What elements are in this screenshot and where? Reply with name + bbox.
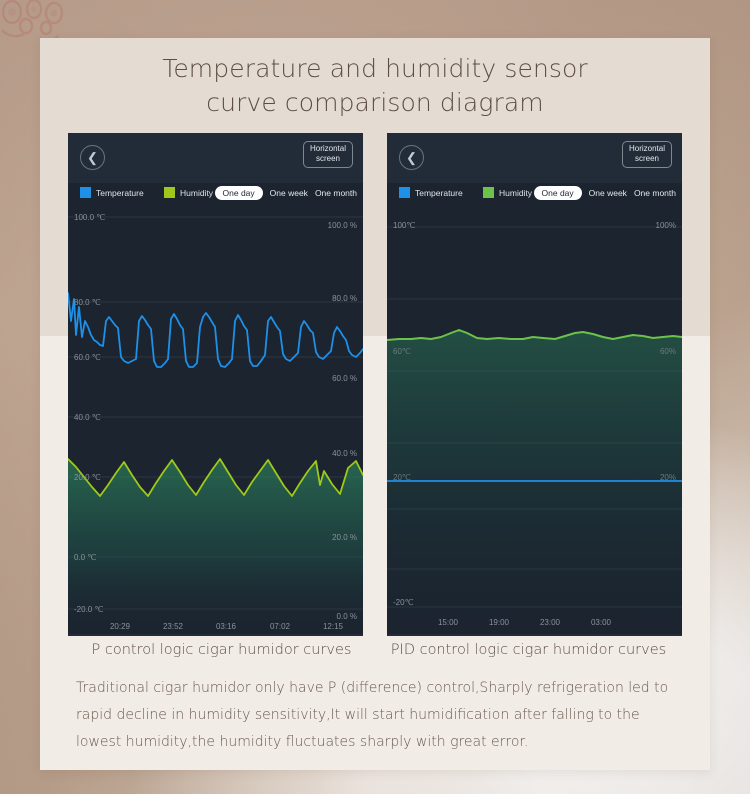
horizontal-screen-label-line-1: Horizontal (623, 144, 671, 154)
chart-panel-left: ❮ Horizontal screen Temperature Humidity… (68, 133, 363, 636)
chart-right-range-tabs: One day One week One month (534, 186, 676, 200)
chart-right-x-tick-3: 03:00 (591, 618, 611, 627)
horizontal-screen-label-line-2: screen (623, 154, 671, 164)
caption-left: P control logic cigar humidor curves (68, 642, 375, 658)
range-tab-one-month[interactable]: One month (634, 186, 676, 200)
legend-item-temperature: Temperature (399, 187, 463, 198)
horizontal-screen-button[interactable]: Horizontal screen (622, 141, 672, 168)
chart-panel-right: ❮ Horizontal screen Temperature Humidity… (387, 133, 682, 636)
chart-right-plot[interactable]: 100℃ 60℃ 20℃ -20℃ 100% 60% 20% 15:00 19:… (387, 209, 682, 636)
description-paragraph: Traditional cigar humidor only have P (d… (76, 675, 676, 756)
legend-swatch-humidity (164, 187, 175, 198)
page-title: Temperature and humidity sensor curve co… (40, 52, 710, 120)
chart-left-topbar: ❮ Horizontal screen (68, 133, 363, 183)
chart-left-x-tick-3: 07:02 (270, 622, 290, 631)
range-tab-one-day[interactable]: One day (215, 186, 263, 200)
chart-left-legend-row: Temperature Humidity One day One week On… (68, 183, 363, 209)
range-tab-one-week[interactable]: One week (589, 186, 627, 200)
chart-right-x-tick-2: 23:00 (540, 618, 560, 627)
chart-left-x-tick-1: 23:52 (163, 622, 183, 631)
chart-right-legend-row: Temperature Humidity One day One week On… (387, 183, 682, 209)
back-icon[interactable]: ❮ (80, 145, 105, 170)
legend-label-temperature: Temperature (96, 188, 144, 198)
chart-left-range-tabs: One day One week One month (215, 186, 357, 200)
legend-item-humidity: Humidity (164, 187, 213, 198)
chart-right-humidity-area (387, 330, 682, 636)
caption-right: PID control logic cigar humidor curves (375, 642, 682, 658)
legend-item-humidity: Humidity (483, 187, 532, 198)
chart-right-topbar: ❮ Horizontal screen (387, 133, 682, 183)
legend-swatch-temperature (80, 187, 91, 198)
chart-left-x-tick-2: 03:16 (216, 622, 236, 631)
content-card: Temperature and humidity sensor curve co… (40, 38, 710, 770)
chart-right-svg (387, 209, 682, 636)
range-tab-one-week[interactable]: One week (270, 186, 308, 200)
horizontal-screen-label-line-1: Horizontal (304, 144, 352, 154)
horizontal-screen-label-line-2: screen (304, 154, 352, 164)
charts-row: ❮ Horizontal screen Temperature Humidity… (68, 133, 682, 636)
legend-swatch-humidity (483, 187, 494, 198)
chart-left-plot[interactable]: 100.0 ℃ 80.0 ℃ 60.0 ℃ 40.0 ℃ 20.0 ℃ 0.0 … (68, 209, 363, 636)
legend-label-temperature: Temperature (415, 188, 463, 198)
chart-right-x-tick-0: 15:00 (438, 618, 458, 627)
range-tab-one-day[interactable]: One day (534, 186, 582, 200)
legend-label-humidity: Humidity (180, 188, 213, 198)
chart-captions: P control logic cigar humidor curves PID… (68, 642, 682, 658)
page-title-line-1: Temperature and humidity sensor (40, 52, 710, 86)
legend-swatch-temperature (399, 187, 410, 198)
page-title-line-2: curve comparison diagram (40, 86, 710, 120)
chart-left-humidity-area (68, 459, 363, 636)
legend-label-humidity: Humidity (499, 188, 532, 198)
back-icon[interactable]: ❮ (399, 145, 424, 170)
chart-left-x-tick-4: 12:15 (323, 622, 343, 631)
horizontal-screen-button[interactable]: Horizontal screen (303, 141, 353, 168)
chart-left-x-tick-0: 20:29 (110, 622, 130, 631)
range-tab-one-month[interactable]: One month (315, 186, 357, 200)
chart-left-svg (68, 209, 363, 636)
chart-right-x-tick-1: 19:00 (489, 618, 509, 627)
legend-item-temperature: Temperature (80, 187, 144, 198)
